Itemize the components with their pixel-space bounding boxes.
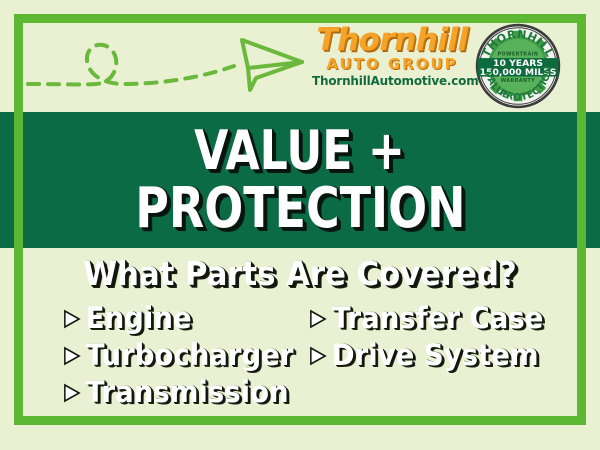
- parts-column-left: Engine Turbocharger: [62, 300, 306, 411]
- triangle-bullet-icon: [308, 308, 327, 330]
- part-item-transfer-case: Transfer Case: [308, 300, 543, 337]
- warranty-badge: THORNHILL POWERTRAIN 10 YEARS 150,000 MI…: [474, 22, 562, 110]
- logo-website-url: ThornhillAutomotive.com: [312, 74, 472, 89]
- triangle-bullet-icon: [308, 345, 327, 367]
- part-item-transmission: Transmission: [62, 374, 293, 411]
- logo-group-text: AUTO GROUP: [312, 56, 472, 73]
- headline-text-group: VALUE + PROTECTION: [0, 112, 600, 248]
- headline-line-1: VALUE +: [195, 122, 406, 180]
- triangle-bullet-icon: [62, 308, 81, 330]
- part-label: Engine: [86, 300, 192, 337]
- part-item-engine: Engine: [62, 300, 293, 337]
- triangle-bullet-icon: [62, 345, 81, 367]
- covered-parts-section: What Parts Are Covered? Engine: [0, 248, 600, 450]
- advertisement-banner: Thornhill AUTO GROUP ThornhillAutomotive…: [0, 0, 600, 450]
- header-section: Thornhill AUTO GROUP ThornhillAutomotive…: [0, 0, 600, 112]
- part-label: Drive System: [332, 337, 539, 374]
- flight-path-illustration: [20, 22, 312, 108]
- part-label: Turbocharger: [86, 337, 294, 374]
- triangle-bullet-icon: [62, 382, 81, 404]
- subheading: What Parts Are Covered?: [21, 254, 579, 294]
- parts-column-right: Transfer Case Drive System: [308, 300, 556, 374]
- badge-warranty-text: WARRANTY: [501, 78, 535, 84]
- part-item-turbocharger: Turbocharger: [62, 337, 293, 374]
- headline-line-2: PROTECTION: [135, 180, 465, 238]
- thornhill-logo[interactable]: Thornhill AUTO GROUP ThornhillAutomotive…: [312, 24, 472, 89]
- part-label: Transmission: [86, 374, 289, 411]
- part-label: Transfer Case: [332, 300, 544, 337]
- badge-powertrain-text: POWERTRAIN: [498, 51, 539, 57]
- logo-brand-name: Thornhill: [312, 24, 472, 56]
- part-item-drive-system: Drive System: [308, 337, 543, 374]
